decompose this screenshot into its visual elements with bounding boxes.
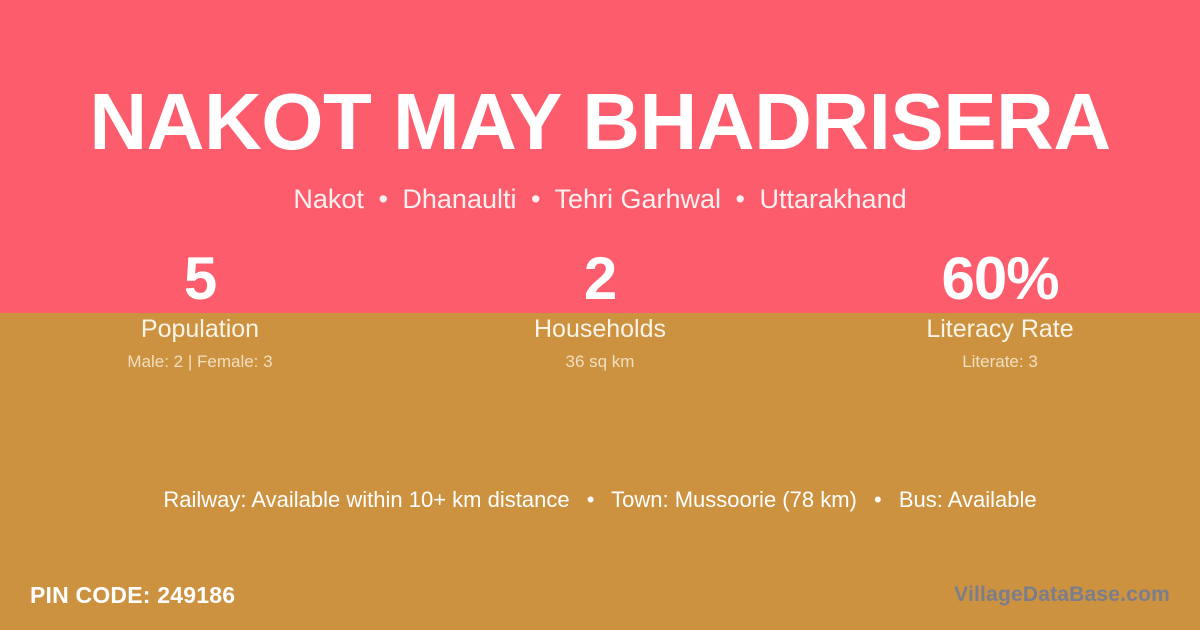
stat-sub-households: 36 sq km: [400, 352, 800, 372]
stat-value-households: 2: [400, 246, 800, 312]
stat-card-households: 2 Households 36 sq km: [400, 246, 800, 372]
connectivity-item-town: Town: Mussoorie (78 km): [611, 487, 857, 512]
stat-sub-population: Male: 2 | Female: 3: [0, 352, 400, 372]
connectivity-line: Railway: Available within 10+ km distanc…: [0, 486, 1200, 514]
breadcrumb-item-block: Dhanaulti: [402, 184, 516, 214]
breadcrumb-item-state: Uttarakhand: [760, 184, 907, 214]
breadcrumb: Nakot • Dhanaulti • Tehri Garhwal • Utta…: [0, 183, 1200, 215]
stat-value-literacy-rate: 60%: [800, 246, 1200, 312]
connectivity-item-bus: Bus: Available: [899, 487, 1037, 512]
stat-card-literacy-rate: 60% Literacy Rate Literate: 3: [800, 246, 1200, 372]
breadcrumb-separator: •: [371, 184, 394, 214]
breadcrumb-separator: •: [524, 184, 547, 214]
connectivity-separator: •: [863, 487, 893, 512]
stat-label-households: Households: [400, 314, 800, 344]
breadcrumb-item-village: Nakot: [293, 184, 364, 214]
stat-value-population: 5: [0, 246, 400, 312]
stat-label-literacy-rate: Literacy Rate: [800, 314, 1200, 344]
page-title: NAKOT MAY BHADRISERA: [0, 82, 1200, 162]
site-brand: VillageDataBase.com: [954, 582, 1170, 608]
breadcrumb-item-district: Tehri Garhwal: [554, 184, 721, 214]
stats-row: 5 Population Male: 2 | Female: 3 2 House…: [0, 246, 1200, 372]
stat-label-population: Population: [0, 314, 400, 344]
connectivity-item-railway: Railway: Available within 10+ km distanc…: [163, 487, 569, 512]
stat-card-population: 5 Population Male: 2 | Female: 3: [0, 246, 400, 372]
stat-sub-literacy-rate: Literate: 3: [800, 352, 1200, 372]
connectivity-separator: •: [576, 487, 606, 512]
pin-code: PIN CODE: 249186: [30, 581, 235, 609]
footer-bar: PIN CODE: 249186 VillageDataBase.com: [0, 560, 1200, 630]
breadcrumb-separator: •: [729, 184, 752, 214]
